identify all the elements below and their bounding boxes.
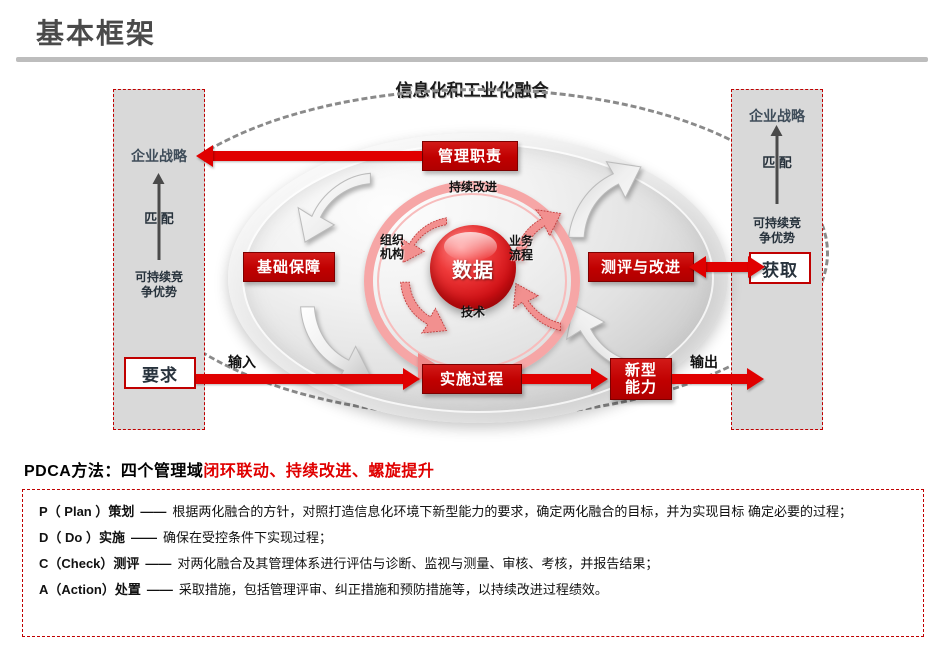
organization-line2: 机构 bbox=[380, 247, 404, 261]
pdca-row: A（Action）处置 —— 采取措施，包括管理评审、纠正措施和预防措施等，以持… bbox=[39, 580, 909, 599]
right-panel-strategy-label: 企业战略 bbox=[732, 106, 822, 126]
process-box-new-capability[interactable]: 新型 能力 bbox=[610, 358, 672, 400]
connector-input-arrowhead-icon bbox=[403, 368, 420, 390]
business-process-line2: 流程 bbox=[509, 248, 533, 262]
pdca-row: C（Check）测评 —— 对两化融合及其管理体系进行评估与诊断、监视与测量、审… bbox=[39, 554, 909, 573]
input-label: 输入 bbox=[228, 352, 256, 372]
pdca-description-box: P（ Plan ）策划 —— 根据两化融合的方针，对照打造信息化环境下新型能力的… bbox=[22, 489, 924, 637]
right-advantage-line2: 争优势 bbox=[759, 231, 795, 245]
process-box-foundation[interactable]: 基础保障 bbox=[243, 252, 335, 282]
inner-label-business-process: 业务 流程 bbox=[501, 234, 541, 262]
pdca-row: D（ Do ）实施 —— 确保在受控条件下实现过程； bbox=[39, 528, 909, 547]
slide-root: 基本框架 信息化和工业化融合 企业战略 匹 配 可持续竞 争优势 要求 企业战略… bbox=[0, 0, 944, 657]
pdca-heading-red: 闭环联动、持续改进、螺旋提升 bbox=[203, 463, 434, 480]
inner-label-technology: 技术 bbox=[438, 305, 508, 319]
new-capability-line1: 新型 bbox=[625, 362, 657, 379]
pdca-row-key: P（ Plan ）策划 bbox=[39, 502, 134, 521]
cycle-arrow-top-right-icon bbox=[560, 160, 646, 246]
organization-line1: 组织 bbox=[380, 233, 404, 247]
pdca-heading-black: PDCA方法：四个管理域 bbox=[24, 463, 203, 480]
right-advantage-label: 可持续竞 争优势 bbox=[732, 216, 822, 246]
inner-arrow-bottom-right-icon bbox=[506, 276, 568, 338]
process-box-implementation[interactable]: 实施过程 bbox=[422, 364, 522, 394]
pdca-row-key: C（Check）测评 bbox=[39, 554, 139, 573]
connector-right-arrowhead-right-icon bbox=[748, 256, 765, 278]
output-label: 输出 bbox=[690, 352, 718, 372]
connector-top-arrowhead-icon bbox=[196, 145, 213, 167]
pdca-row-value: 根据两化融合的方针，对照打造信息化环境下新型能力的要求，确定两化融合的目标，并为… bbox=[172, 502, 909, 521]
pdca-row-dash: —— bbox=[131, 528, 157, 547]
connector-implementation-line bbox=[522, 374, 592, 384]
connector-right-line bbox=[706, 262, 754, 272]
data-sphere-label: 数据 bbox=[452, 254, 494, 283]
inner-label-organization: 组织 机构 bbox=[372, 233, 412, 261]
new-capability-line2: 能力 bbox=[625, 379, 657, 396]
left-advantage-line2: 争优势 bbox=[141, 285, 177, 299]
inner-label-continuous-improvement: 持续改进 bbox=[423, 180, 523, 194]
pdca-row-value: 确保在受控条件下实现过程； bbox=[163, 528, 909, 547]
connector-implementation-arrowhead-icon bbox=[591, 368, 608, 390]
pdca-row-key: A（Action）处置 bbox=[39, 580, 141, 599]
connector-input-line bbox=[196, 374, 404, 384]
right-match-label: 匹 配 bbox=[732, 152, 822, 171]
left-panel-strategy-label: 企业战略 bbox=[114, 146, 204, 166]
pdca-row-dash: —— bbox=[140, 502, 166, 521]
right-advantage-line1: 可持续竞 bbox=[753, 216, 801, 230]
connector-output-line bbox=[672, 374, 748, 384]
pdca-row-value: 采取措施，包括管理评审、纠正措施和预防措施等，以持续改进过程绩效。 bbox=[179, 580, 909, 599]
connector-right-arrowhead-left-icon bbox=[689, 256, 706, 278]
left-match-label: 匹 配 bbox=[114, 208, 204, 227]
left-advantage-label: 可持续竞 争优势 bbox=[114, 270, 204, 300]
process-box-evaluation-improvement[interactable]: 测评与改进 bbox=[588, 252, 694, 282]
requirement-box[interactable]: 要求 bbox=[124, 357, 196, 389]
pdca-row-dash: —— bbox=[147, 580, 173, 599]
pdca-row-key: D（ Do ）实施 bbox=[39, 528, 125, 547]
page-title: 基本框架 bbox=[36, 12, 156, 52]
pdca-row: P（ Plan ）策划 —— 根据两化融合的方针，对照打造信息化环境下新型能力的… bbox=[39, 502, 909, 521]
connector-top-line bbox=[213, 151, 422, 161]
connector-output-arrowhead-icon bbox=[747, 368, 764, 390]
business-process-line1: 业务 bbox=[509, 234, 533, 248]
cycle-arrow-top-left-icon bbox=[293, 163, 379, 249]
pdca-heading: PDCA方法：四个管理域闭环联动、持续改进、螺旋提升 bbox=[24, 457, 434, 481]
process-box-management-responsibility[interactable]: 管理职责 bbox=[422, 141, 518, 171]
pdca-row-dash: —— bbox=[145, 554, 171, 573]
title-divider bbox=[16, 57, 928, 62]
pdca-row-value: 对两化融合及其管理体系进行评估与诊断、监视与测量、审核、考核，并报告结果； bbox=[177, 554, 909, 573]
left-advantage-line1: 可持续竞 bbox=[135, 270, 183, 284]
